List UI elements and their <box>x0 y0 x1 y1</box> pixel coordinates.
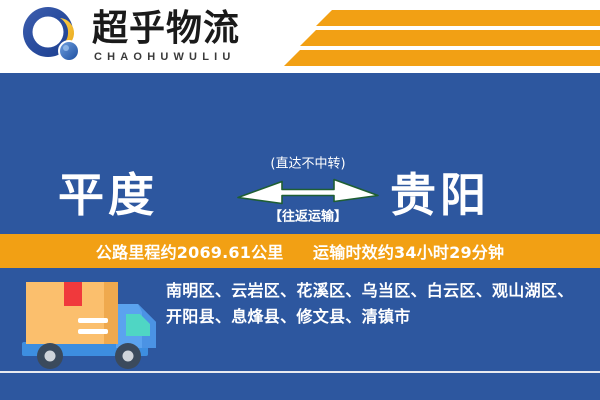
bidirectional-arrow-icon <box>236 176 380 206</box>
coverage-areas-text: 南明区、云岩区、花溪区、乌当区、白云区、观山湖区、开阳县、息烽县、修文县、清镇市 <box>166 278 586 330</box>
info-bar-content: 公路里程约2069.61公里 运输时效约34小时29分钟 <box>96 239 504 263</box>
direct-note: (直达不中转) <box>236 157 380 173</box>
duration-label: 运输时效约34小时29分钟 <box>313 243 504 262</box>
route-panel: 平度 (直达不中转) 【往返运输】 贵阳 <box>0 73 600 234</box>
brand-name-cn: 超乎物流 <box>92 8 240 50</box>
route-middle: (直达不中转) 【往返运输】 <box>236 157 380 226</box>
logistics-route-poster: 超乎物流 CHAOHUWULIU 平度 (直达不中转) 【往返运输】 贵阳 <box>0 0 600 400</box>
coverage-panel: 南明区、云岩区、花溪区、乌当区、白云区、观山湖区、开阳县、息烽县、修文县、清镇市 <box>0 268 600 400</box>
delivery-truck-icon <box>16 276 162 374</box>
header: 超乎物流 CHAOHUWULIU <box>0 0 600 73</box>
destination-city: 贵阳 <box>390 169 490 221</box>
origin-city: 平度 <box>58 169 158 221</box>
crescent-circle-logo-icon <box>22 6 84 66</box>
brand-logo[interactable]: 超乎物流 CHAOHUWULIU <box>22 6 240 66</box>
road-line <box>0 371 600 373</box>
brand-logo-text: 超乎物流 CHAOHUWULIU <box>92 8 240 64</box>
distance-label: 公路里程约2069.61公里 <box>96 243 284 262</box>
info-bar: 公路里程约2069.61公里 运输时效约34小时29分钟 <box>0 234 600 268</box>
brand-name-en: CHAOHUWULIU <box>92 50 240 64</box>
orange-speed-stripes-icon <box>270 0 600 73</box>
round-trip-note: 【往返运输】 <box>236 210 380 226</box>
